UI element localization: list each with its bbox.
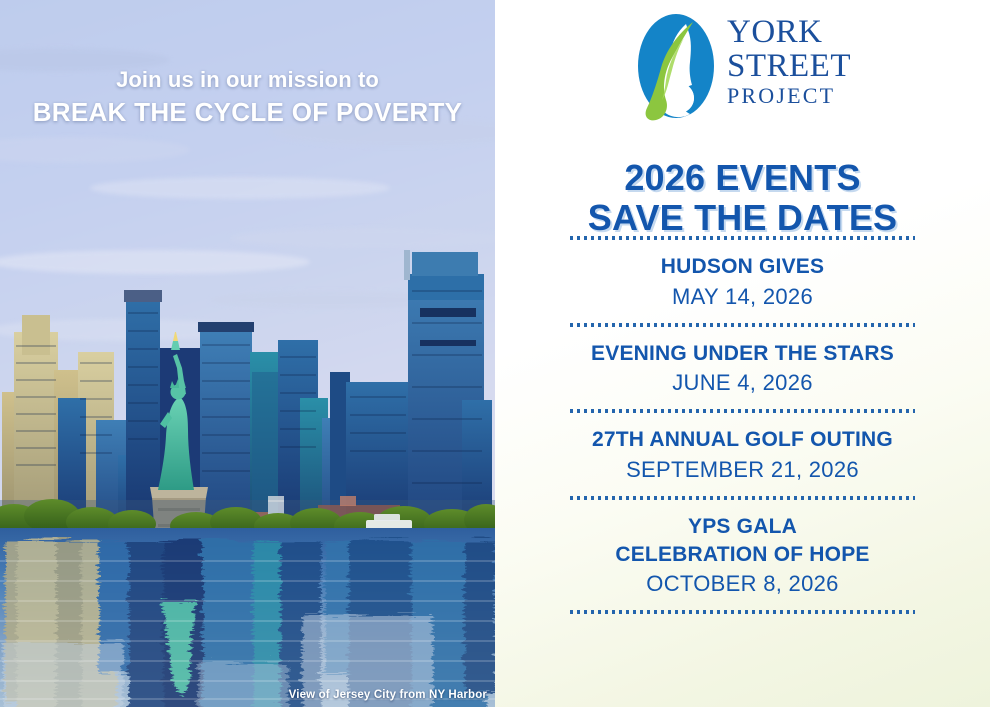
york-street-project-logo[interactable]: YORK STREET PROJECT	[495, 8, 990, 132]
event-item[interactable]: HUDSON GIVESMAY 14, 2026	[495, 240, 990, 323]
event-date: JUNE 4, 2026	[495, 368, 990, 398]
logo-word-york: YORK	[727, 16, 851, 49]
title-line-1: 2026 EVENTS	[495, 158, 990, 198]
event-item[interactable]: 27TH ANNUAL GOLF OUTINGSEPTEMBER 21, 202…	[495, 413, 990, 496]
mission-headline: Join us in our mission to BREAK THE CYCL…	[0, 66, 495, 129]
event-name: 27TH ANNUAL GOLF OUTING	[495, 426, 990, 454]
title-line-2: SAVE THE DATES	[495, 198, 990, 238]
events-list: HUDSON GIVESMAY 14, 2026EVENING UNDER TH…	[495, 236, 990, 614]
event-date: OCTOBER 8, 2026	[495, 569, 990, 599]
logo-word-street: STREET	[727, 50, 851, 83]
event-date: MAY 14, 2026	[495, 282, 990, 312]
event-name: HUDSON GIVES	[495, 253, 990, 281]
event-name: YPS GALACELEBRATION OF HOPE	[495, 513, 990, 568]
headline-line-1: Join us in our mission to	[0, 66, 495, 95]
event-name: EVENING UNDER THE STARS	[495, 340, 990, 368]
save-the-dates-poster: Join us in our mission to BREAK THE CYCL…	[0, 0, 990, 707]
photo-caption: View of Jersey City from NY Harbor	[289, 689, 487, 701]
mother-and-child-logo-icon	[634, 8, 718, 132]
event-item[interactable]: EVENING UNDER THE STARSJUNE 4, 2026	[495, 327, 990, 410]
headline-line-2: BREAK THE CYCLE OF POVERTY	[0, 96, 495, 129]
events-info-panel: YORK STREET PROJECT 2026 EVENTS SAVE THE…	[495, 0, 990, 707]
logo-wordmark: YORK STREET PROJECT	[727, 16, 851, 125]
event-divider	[570, 610, 915, 614]
event-item[interactable]: YPS GALACELEBRATION OF HOPEOCTOBER 8, 20…	[495, 500, 990, 610]
skyline-photo-panel: Join us in our mission to BREAK THE CYCL…	[0, 0, 495, 707]
logo-word-project: PROJECT	[727, 85, 851, 107]
event-date: SEPTEMBER 21, 2026	[495, 455, 990, 485]
page-title: 2026 EVENTS SAVE THE DATES	[495, 158, 990, 239]
